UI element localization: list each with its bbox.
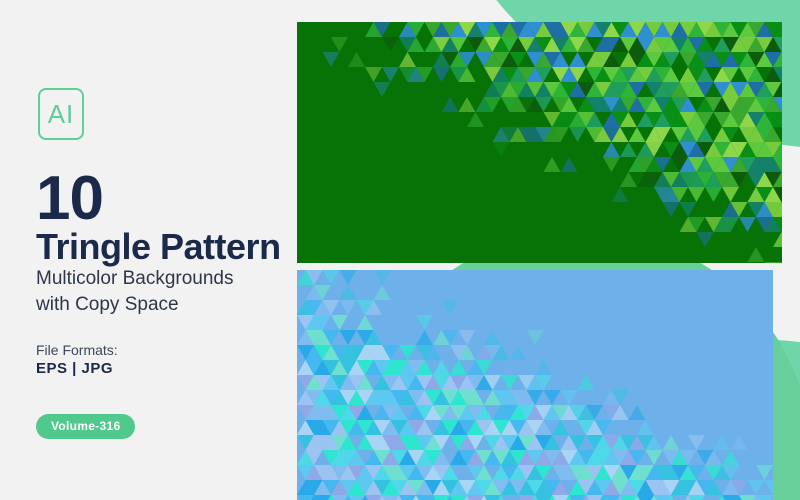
page-title: Tringle Pattern: [36, 228, 281, 266]
file-formats-value: EPS | JPG: [36, 360, 113, 377]
preview-green-triangle-pattern: [297, 22, 782, 263]
green-pattern-canvas: [297, 22, 782, 263]
poster-canvas: AI 10 Tringle Pattern Multicolor Backgro…: [0, 0, 800, 500]
info-column: AI 10 Tringle Pattern Multicolor Backgro…: [36, 0, 306, 500]
page-subtitle: Multicolor Backgrounds with Copy Space: [36, 266, 233, 317]
blue-pattern-canvas: [297, 270, 773, 500]
ai-badge-label: AI: [48, 99, 75, 130]
preview-blue-triangle-pattern: [297, 270, 773, 500]
subtitle-line-2: with Copy Space: [36, 292, 233, 318]
file-formats-label: File Formats:: [36, 342, 118, 358]
subtitle-line-1: Multicolor Backgrounds: [36, 266, 233, 292]
ai-format-badge: AI: [38, 88, 84, 140]
volume-badge: Volume-316: [36, 414, 135, 439]
pack-count: 10: [36, 168, 103, 230]
